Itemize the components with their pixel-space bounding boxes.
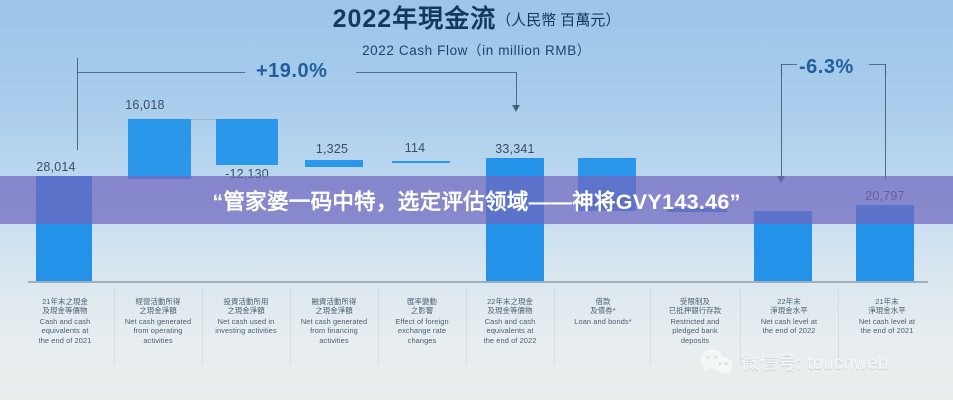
category-separator xyxy=(554,288,555,364)
category-en: Net cash used ininvesting activities xyxy=(204,317,288,336)
bar-label-fx-effect: 114 xyxy=(385,141,445,155)
bar-label-cash-end-2021: 28,014 xyxy=(11,160,101,174)
category-label-investing: 投資活動所用之現金淨額 Net cash used ininvesting ac… xyxy=(204,297,288,336)
bar-financing xyxy=(305,160,363,167)
wechat-icon xyxy=(700,348,734,376)
category-zh: 融資活動所得之現金淨額 xyxy=(292,297,376,316)
category-en: Cash and cashequivalents atthe end of 20… xyxy=(22,317,108,345)
category-en: Net cash level atthe end of 2021 xyxy=(840,317,934,336)
category-en: Restricted andpledged bankdeposits xyxy=(652,317,738,345)
watermark: 微信号: touchweb xyxy=(700,348,889,376)
category-label-loan-bonds: 借款及債券* Loan and bonds* xyxy=(560,297,646,326)
watermark-text: 微信号: touchweb xyxy=(741,349,889,375)
category-en: Net cash generatedfrom financingactiviti… xyxy=(292,317,376,345)
category-en: Net cash level atthe end of 2022 xyxy=(742,317,836,336)
category-separator xyxy=(202,288,203,364)
overlay-banner: “管家婆一码中特，选定评估领域——神将GVY143.46” xyxy=(0,176,953,224)
category-en: Loan and bonds* xyxy=(560,317,646,326)
category-zh: 經營活動所得之現金淨額 xyxy=(116,297,200,316)
category-en: Cash and cashequivalents atthe end of 20… xyxy=(468,317,552,345)
bar-label-operating: 16,018 xyxy=(95,98,195,112)
bar-fx-effect xyxy=(392,161,450,163)
category-zh: 借款及債券* xyxy=(560,297,646,316)
category-label-operating: 經營活動所得之現金淨額 Net cash generatedfrom opera… xyxy=(116,297,200,345)
baseline-axis xyxy=(28,281,928,283)
category-label-restricted-deposits: 受限制及已抵押銀行存款 Restricted andpledged bankde… xyxy=(652,297,738,345)
category-zh: 受限制及已抵押銀行存款 xyxy=(652,297,738,316)
bar-label-financing: 1,325 xyxy=(297,142,367,156)
category-zh: 投資活動所用之現金淨額 xyxy=(204,297,288,316)
category-label-cash-end-2021: 21年末之現金及現金等價物 Cash and cashequivalents a… xyxy=(22,297,108,345)
category-label-net-cash-2021: 21年末淨現金水平 Net cash level atthe end of 20… xyxy=(840,297,934,336)
overlay-banner-text: “管家婆一码中特，选定评估领域——神将GVY143.46” xyxy=(212,185,740,216)
connector-operating-investing xyxy=(191,119,216,120)
category-label-fx-effect: 匯率變動之影響 Effect of foreignexchange ratech… xyxy=(380,297,464,345)
category-separator xyxy=(466,288,467,364)
category-zh: 21年末之現金及現金等價物 xyxy=(22,297,108,316)
category-zh: 21年末淨現金水平 xyxy=(840,297,934,316)
category-separator xyxy=(650,288,651,364)
category-zh: 匯率變動之影響 xyxy=(380,297,464,316)
bar-investing xyxy=(216,119,278,165)
category-label-financing: 融資活動所得之現金淨額 Net cash generatedfrom finan… xyxy=(292,297,376,345)
category-zh: 22年末之現金及現金等價物 xyxy=(468,297,552,316)
category-en: Net cash generatedfrom operatingactiviti… xyxy=(116,317,200,345)
category-separator xyxy=(378,288,379,364)
category-en: Effect of foreignexchange ratechanges xyxy=(380,317,464,345)
cash-flow-chart-image: 2022年現金流（人民幣 百萬元） 2022 Cash Flow（in mill… xyxy=(0,0,953,400)
category-zh: 22年末淨現金水平 xyxy=(742,297,836,316)
category-separator xyxy=(114,288,115,364)
category-label-net-cash-2022: 22年末淨現金水平 Net cash level atthe end of 20… xyxy=(742,297,836,336)
category-separator xyxy=(290,288,291,364)
bar-label-cash-end-2022: 33,341 xyxy=(471,142,559,156)
bar-operating xyxy=(128,119,191,179)
category-label-cash-end-2022: 22年末之現金及現金等價物 Cash and cashequivalents a… xyxy=(468,297,552,345)
